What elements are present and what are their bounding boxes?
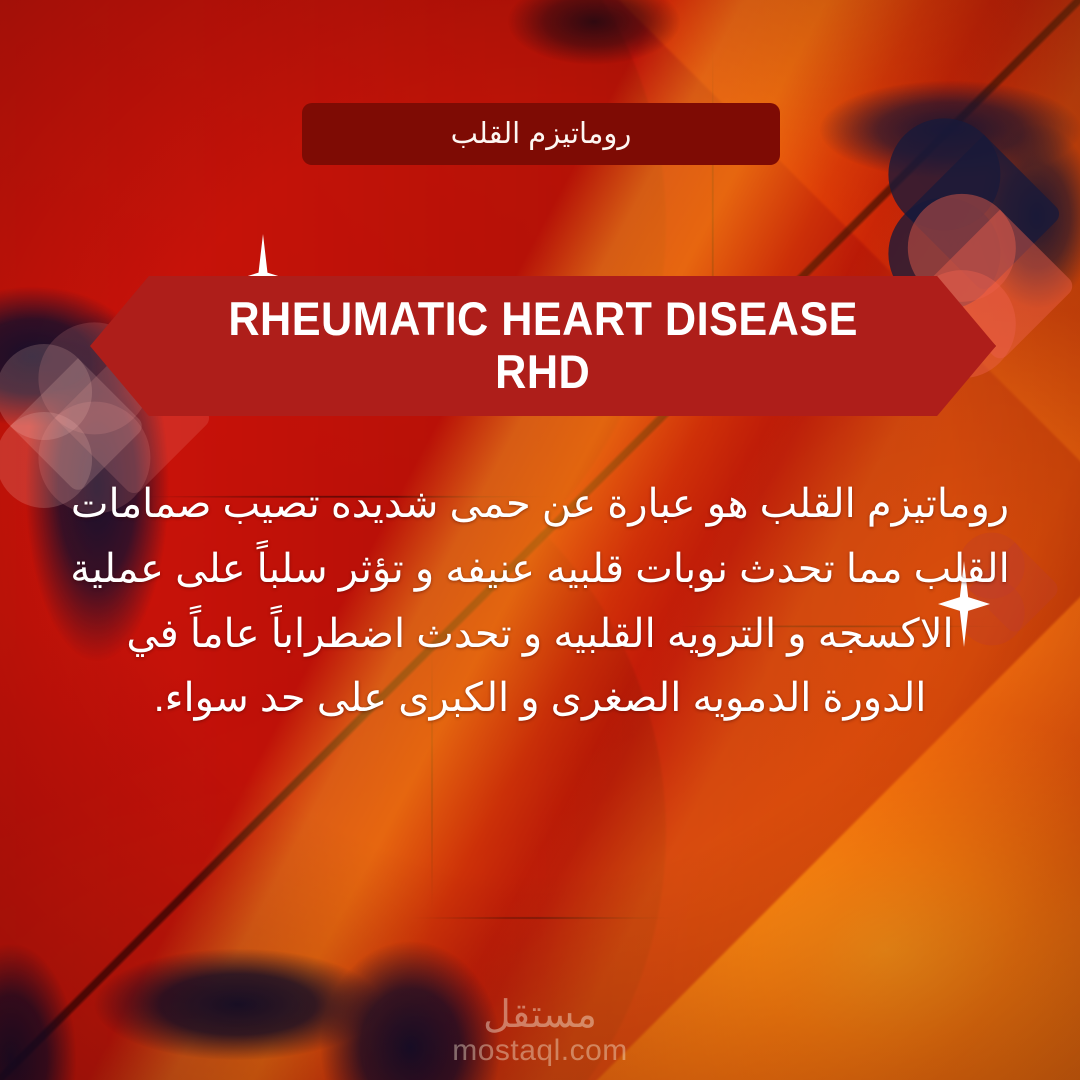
- ribbon-banner-text-group: RHEUMATIC HEART DISEASE RHD: [90, 276, 996, 416]
- arabic-body-paragraph: روماتيزم القلب هو عبارة عن حمى شديده تصي…: [70, 472, 1010, 731]
- banner-title-line-2: RHD: [495, 347, 590, 398]
- arabic-title-badge: روماتيزم القلب: [302, 103, 780, 165]
- poster-canvas: روماتيزم القلب RHEUMATIC HEART DISEASE R…: [0, 0, 1080, 1080]
- banner-title-line-1: RHEUMATIC HEART DISEASE: [228, 294, 858, 345]
- arabic-title-text: روماتيزم القلب: [451, 120, 632, 149]
